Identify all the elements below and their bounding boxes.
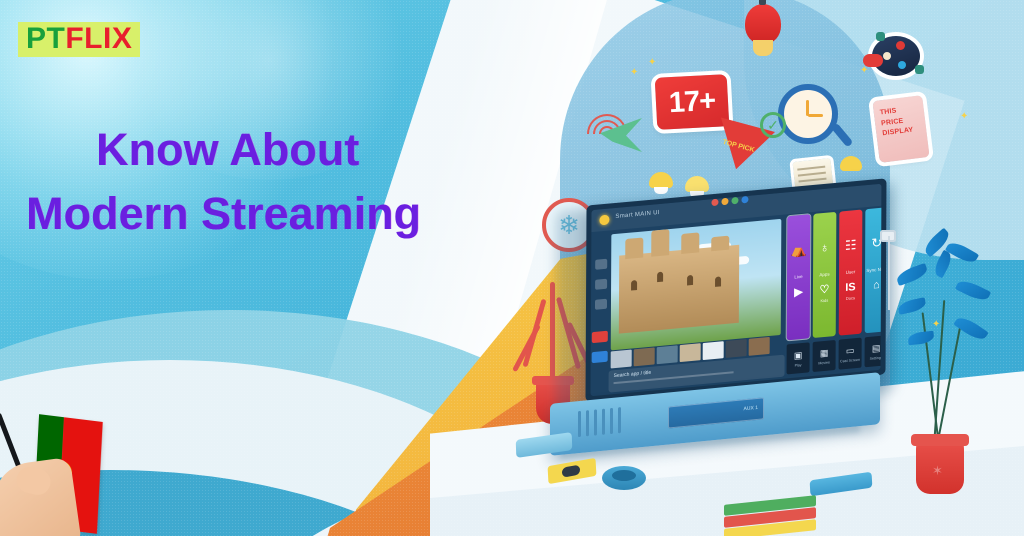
headline-line-2: Modern Streaming (26, 182, 536, 246)
rating-card-17plus: 17+ (655, 74, 730, 130)
app-column-green-sub-icon: ♡ (819, 284, 829, 296)
tv-rail-button-blue[interactable] (592, 351, 608, 363)
tile-movies-label: Movies (818, 360, 829, 365)
pot-star-icon: ✶ (932, 464, 946, 478)
app-column-purple-label: Live (794, 274, 802, 280)
tile-settings[interactable]: ▤ Settings (865, 335, 882, 367)
smart-speaker-puck[interactable] (602, 466, 646, 490)
game-controller-icon (872, 36, 920, 76)
page-title: Know About Modern Streaming (96, 118, 536, 246)
app-column-green[interactable]: ♁ Apps ♡ Kids (813, 212, 837, 338)
app-column-purple-sub-icon: ▶ (794, 287, 803, 299)
search-heart-icon: ♁ (820, 240, 830, 254)
tile-play-icon: ▣ (794, 349, 803, 361)
console-display-text: AUX 1 (744, 405, 758, 412)
app-column-cyan[interactable]: ↻ Sync Now ⌂ (865, 207, 882, 333)
tent-icon: ⛺ (791, 243, 807, 257)
sparkle-icon-2: ✦ (648, 58, 656, 68)
tile-cast[interactable]: ▭ Cast Screen (839, 338, 862, 370)
app-column-red[interactable]: ☷ User IS Docs (839, 209, 863, 335)
console-speaker-grille (578, 407, 621, 437)
app-column-green-label: Apps (819, 271, 829, 277)
tile-settings-label: Settings (870, 355, 882, 360)
hand-holding-flag (0, 457, 82, 536)
console-display: AUX 1 (668, 397, 764, 428)
tile-settings-icon: ▤ (872, 342, 881, 354)
magnifier-clock-icon (778, 84, 838, 144)
app-column-cyan-label: Sync Now (866, 266, 881, 273)
tv-app-columns[interactable]: ⛺ Live ▶ ♁ Apps ♡ Kids ☷ User IS Docs (787, 207, 882, 340)
triangle-banner-text: TOP PICK (721, 138, 760, 157)
logo-text-pt: PT (26, 22, 65, 55)
tv-hero-castle (619, 245, 739, 334)
checkmark-icon: ✓ (760, 112, 786, 138)
home-icon: ⌂ (873, 280, 880, 292)
lightbulb-icon-1 (646, 166, 676, 196)
smart-tv[interactable]: Smart MAIN UI (585, 178, 886, 401)
tile-cast-icon: ▭ (846, 345, 855, 357)
tile-play[interactable]: ▣ Play (787, 342, 810, 374)
app-column-red-label: User (846, 269, 856, 275)
plant-pot: ✶ (916, 440, 964, 494)
tile-cast-label: Cast Screen (840, 357, 860, 363)
tv-search-label: Search app / title (614, 370, 652, 379)
brand-logo[interactable]: PTFLIX (18, 22, 140, 57)
banner-canvas: PTFLIX Know About Modern Streaming 17+ T… (0, 0, 1024, 536)
ticket-card: THIS PRICE DISPLAY (872, 95, 929, 163)
ticket-card-text: THIS PRICE DISPLAY (879, 104, 921, 140)
sparkle-icon-4: ✦ (960, 112, 968, 122)
sparkle-icon-3: ✦ (860, 66, 868, 76)
tv-screen[interactable]: Smart MAIN UI (591, 184, 882, 396)
profile-icon: ☷ (845, 238, 857, 252)
sparkle-icon-1: ✦ (630, 68, 638, 78)
headline-line-1: Know About (96, 124, 359, 175)
lantern-icon (745, 4, 781, 44)
tv-bottom-tiles[interactable]: ▣ Play ▦ Movies ▭ Cast Screen ▤ Settings (787, 335, 882, 374)
tile-play-label: Play (795, 363, 802, 368)
app-column-purple[interactable]: ⛺ Live ▶ (787, 214, 811, 340)
tv-hero-image[interactable] (611, 219, 782, 351)
lightbulb-icon-3 (838, 152, 864, 178)
tv-rail-button-red[interactable] (592, 331, 608, 343)
app-column-red-sub-label: Docs (846, 295, 855, 301)
tile-movies[interactable]: ▦ Movies (813, 340, 836, 372)
logo-text-flix: FLIX (65, 22, 132, 55)
sparkle-icon-6: ✦ (932, 320, 940, 330)
tile-movies-icon: ▦ (820, 347, 829, 359)
paper-plane-icon (600, 118, 642, 152)
power-cable (888, 236, 890, 310)
app-column-red-big-text: IS (845, 282, 855, 294)
tv-left-rail[interactable] (595, 259, 607, 310)
app-column-green-sub-label: Kids (820, 298, 828, 304)
